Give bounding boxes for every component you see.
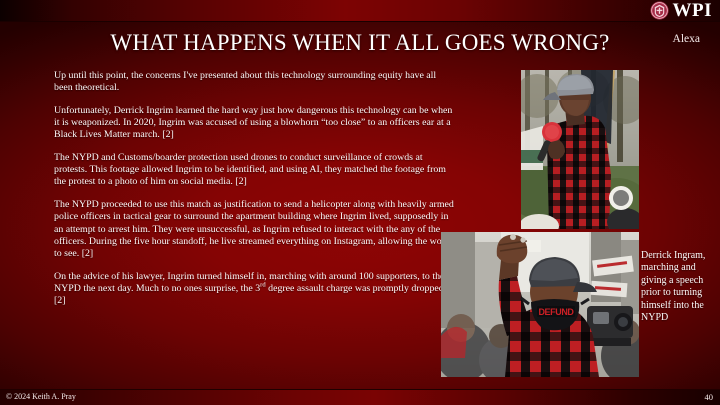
body-paragraph-2: Unfortunately, Derrick Ingrim learned th…: [54, 105, 454, 142]
slide-canvas: CS 3043 Social Implications Of Computing…: [0, 0, 720, 405]
body-paragraph-4: The NYPD proceeded to use this match as …: [54, 199, 454, 260]
body-paragraph-3: The NYPD and Customs/boarder protection …: [54, 152, 454, 189]
wpi-wordmark: WPI: [673, 1, 713, 20]
copyright-notice: © 2024 Keith A. Pray: [6, 392, 76, 401]
photo-caption: Derrick Ingram, marching and giving a sp…: [641, 250, 717, 324]
wpi-logo-lockup: WPI: [650, 1, 713, 20]
raised-fist-photo: DEFUND: [441, 232, 639, 377]
slide-header-band: [0, 0, 720, 22]
body-paragraph-5: On the advice of his lawyer, Ingrim turn…: [54, 271, 454, 308]
svg-text:DEFUND: DEFUND: [538, 307, 574, 317]
presenter-name: Alexa: [673, 33, 700, 45]
slide-footer-band: © 2024 Keith A. Pray 40: [0, 389, 720, 405]
slide-body-text: Up until this point, the concerns I've p…: [54, 70, 454, 318]
slide-page-number: 40: [705, 392, 714, 402]
protest-speech-photo: [521, 70, 639, 229]
body-paragraph-1: Up until this point, the concerns I've p…: [54, 70, 454, 94]
slide-title: WHAT HAPPENS WHEN IT ALL GOES WRONG?: [0, 30, 720, 56]
wpi-seal-icon: [650, 1, 669, 20]
